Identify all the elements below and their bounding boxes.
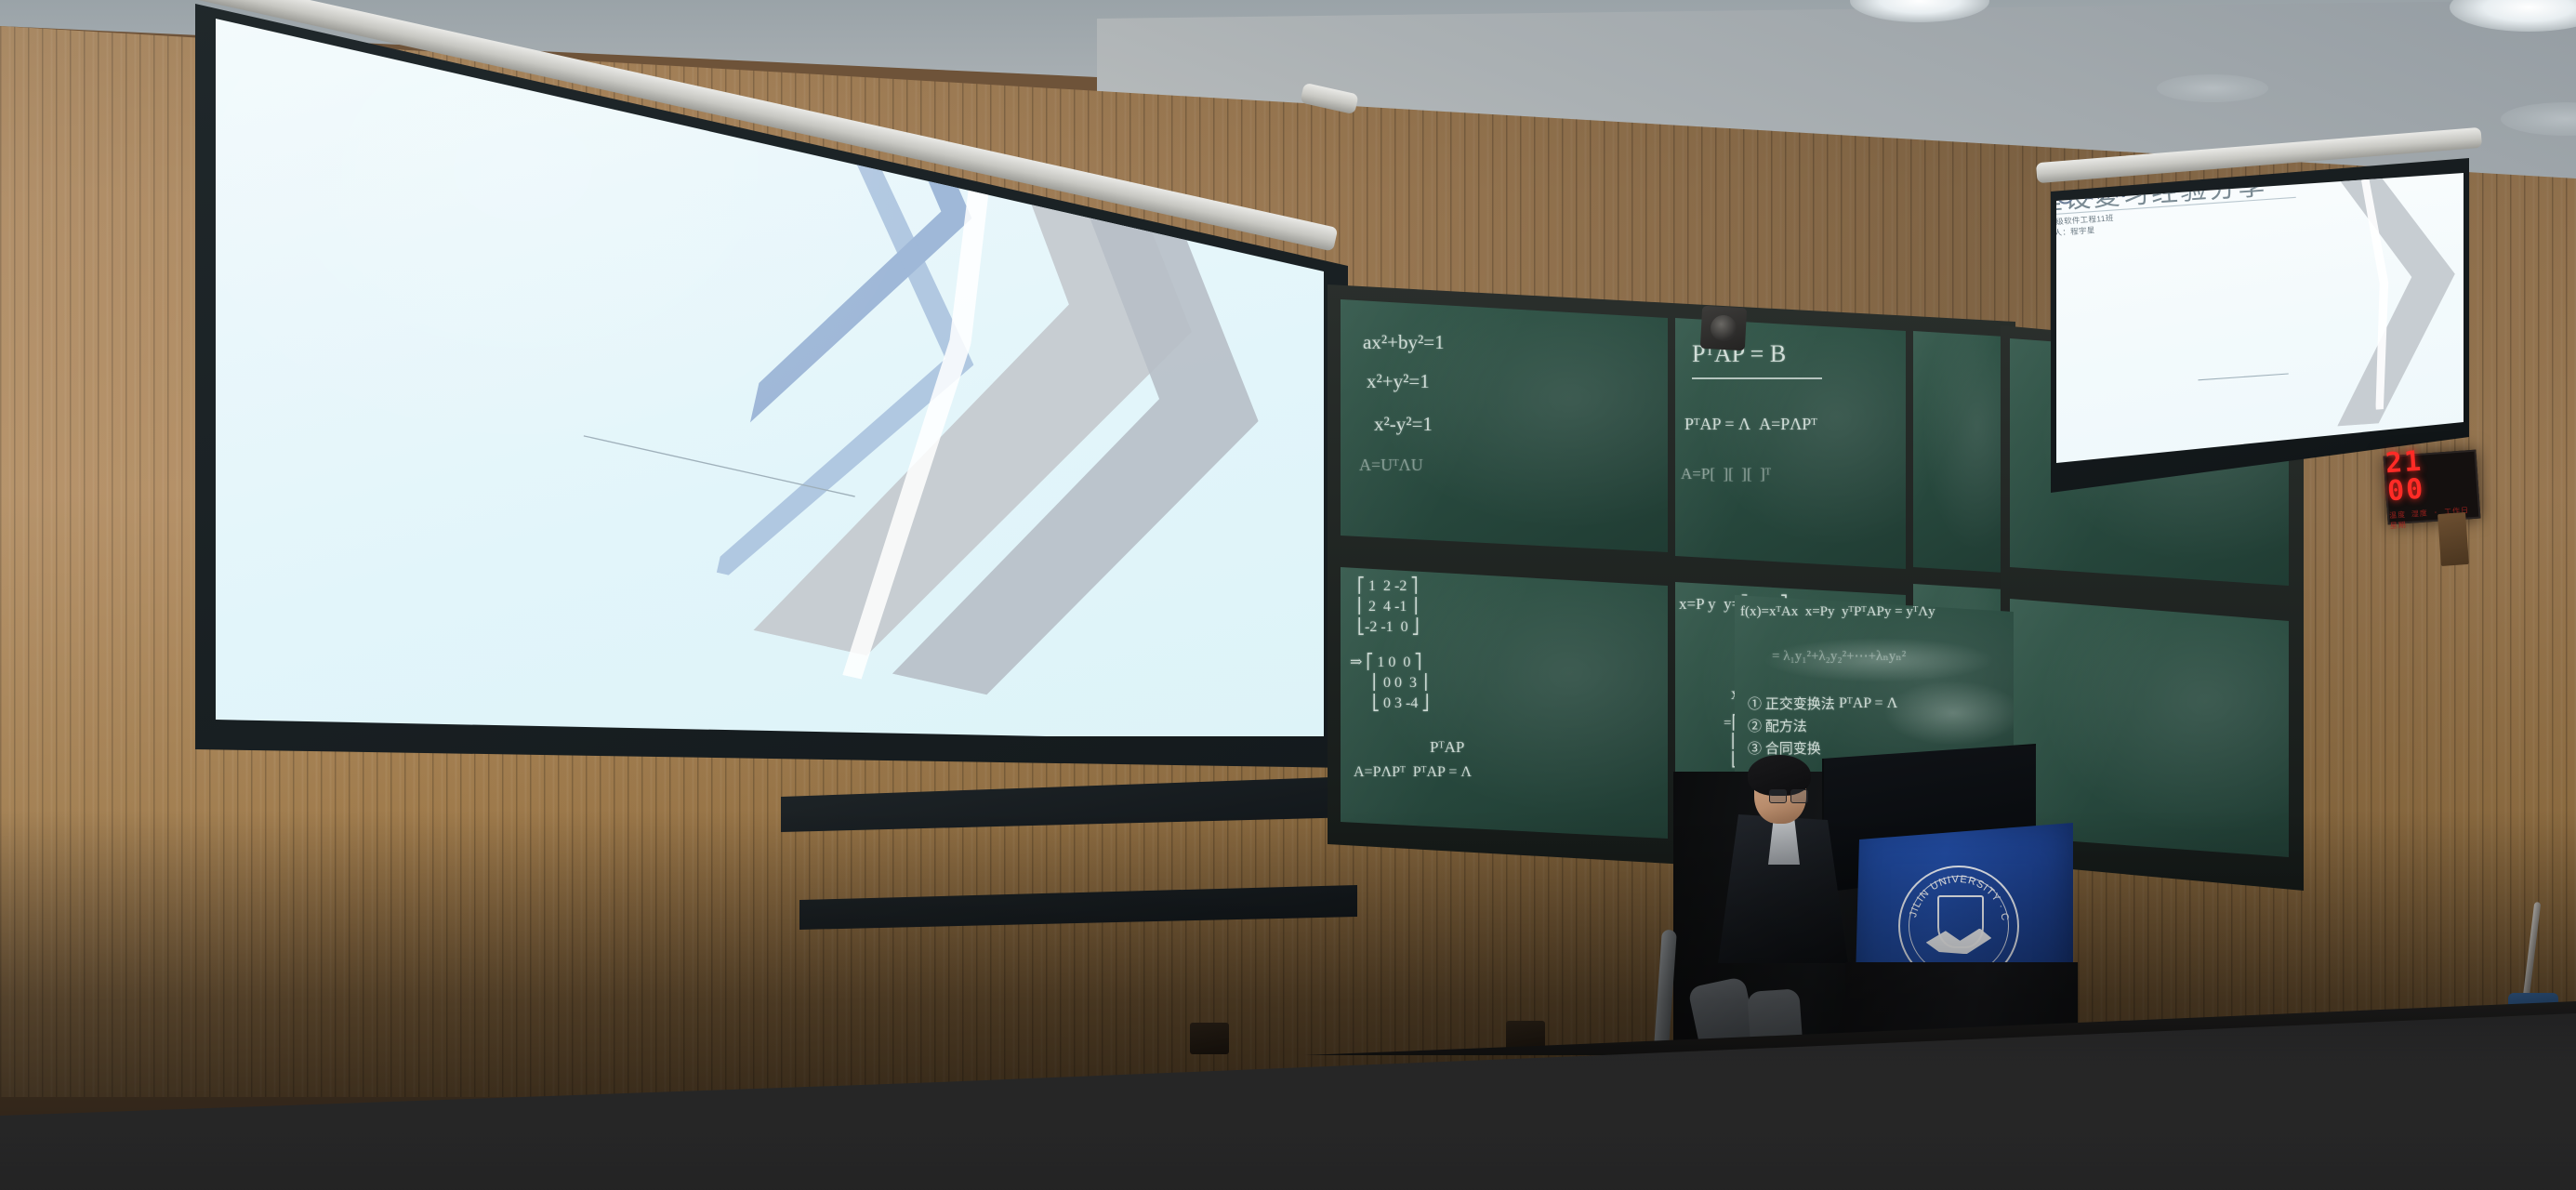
chalk-line: ⎣ 0 3 -4 ⎦ <box>1372 694 1429 712</box>
lecture-hall-scene: 吉林大学 程设复习经验分享 2022级软件工程11班 讲解人：程宇星 ax²+b… <box>0 0 2576 1190</box>
clock-time: 21 00 <box>2384 443 2477 506</box>
chalk-line: PᵀAP = Λ A=PΛPᵀ <box>1684 415 1817 434</box>
ceiling-light-2 <box>2157 74 2268 102</box>
chalkboard-panel-upper-left: ax²+by²=1 x²+y²=1 x²-y²=1 A=UᵀΛU <box>1341 296 1668 552</box>
chalk-line: ax²+by²=1 <box>1363 331 1445 354</box>
presenter-glasses-icon <box>1769 789 1808 801</box>
right-slide-subtitle-rule <box>2198 373 2288 380</box>
chalk-smudge <box>1763 638 1995 682</box>
wall-speaker-icon <box>1700 306 1747 350</box>
right-slide: 吉林大学 程设复习经验分享 2022级软件工程11班 讲解人：程宇星 <box>2056 173 2464 463</box>
chevron-grey-1 <box>2318 173 2464 427</box>
chalk-line: ⇒ ⎡ 1 0 0 ⎤ <box>1350 653 1421 671</box>
chalk-line: A=UᵀΛU <box>1359 456 1423 475</box>
glasses-lens-right <box>1790 789 1808 803</box>
right-projection-screen: 吉林大学 程设复习经验分享 2022级软件工程11班 讲解人：程宇星 <box>2056 173 2464 463</box>
right-slide-chevron-decoration <box>2300 173 2464 463</box>
broom-handle <box>2523 902 2542 998</box>
chalk-line: f(x)=xᵀAx x=Py yᵀPᵀAPy = yᵀΛy <box>1740 604 1935 620</box>
glasses-lens-left <box>1769 789 1787 803</box>
chalk-line: ⎡ 1 2 -2 ⎤ <box>1357 576 1418 595</box>
chalk-line: ⎢ 2 4 -1 ⎥ <box>1357 597 1418 615</box>
wall-panel-recess <box>2437 512 2469 566</box>
chalkboard-panel-upper-right <box>1913 329 2004 573</box>
svg-text:JILIN UNIVERSITY · CHINA: JILIN UNIVERSITY · CHINA <box>1900 867 2011 922</box>
chalk-line: A=PΛPᵀ PᵀAP = Λ <box>1354 764 1472 781</box>
digital-clock: 21 00 温度 湿度 · 工作日 星期 <box>2384 450 2481 525</box>
chalk-line: ① 正交变换法 <box>1748 694 1835 713</box>
chalk-line: PᵀAP <box>1430 738 1464 757</box>
slide-left-accent-bar <box>216 2 240 254</box>
chalk-line: A=P[ ][ ][ ]ᵀ <box>1681 465 1771 483</box>
chalk-line: ⎣-2 -1 0 ⎦ <box>1357 617 1420 636</box>
chalk-smudge <box>1883 681 2014 746</box>
chalk-underline <box>1692 377 1822 379</box>
chalk-line: x²+y²=1 <box>1367 370 1430 393</box>
podium-seal-arc-label: JILIN UNIVERSITY · CHINA <box>1900 867 2011 922</box>
chalk-line: ② 配方法 <box>1748 716 1807 735</box>
chalk-line: ⎢ 0 0 3 ⎥ <box>1372 673 1428 692</box>
chalk-line: x²-y²=1 <box>1374 413 1433 436</box>
chalkboard-panel-right-lower <box>2010 597 2289 857</box>
wall-outlet-1 <box>1190 1023 1229 1054</box>
chalkboard-panel-lower-left: ⎡ 1 2 -2 ⎤ ⎢ 2 4 -1 ⎥ ⎣-2 -1 0 ⎦ ⇒ ⎡ 1 0… <box>1341 563 1668 839</box>
chalkboard-panel-upper-mid: PᵀAP = B PᵀAP = Λ A=PΛPᵀ A=P[ ][ ][ ]ᵀ <box>1675 316 1906 569</box>
